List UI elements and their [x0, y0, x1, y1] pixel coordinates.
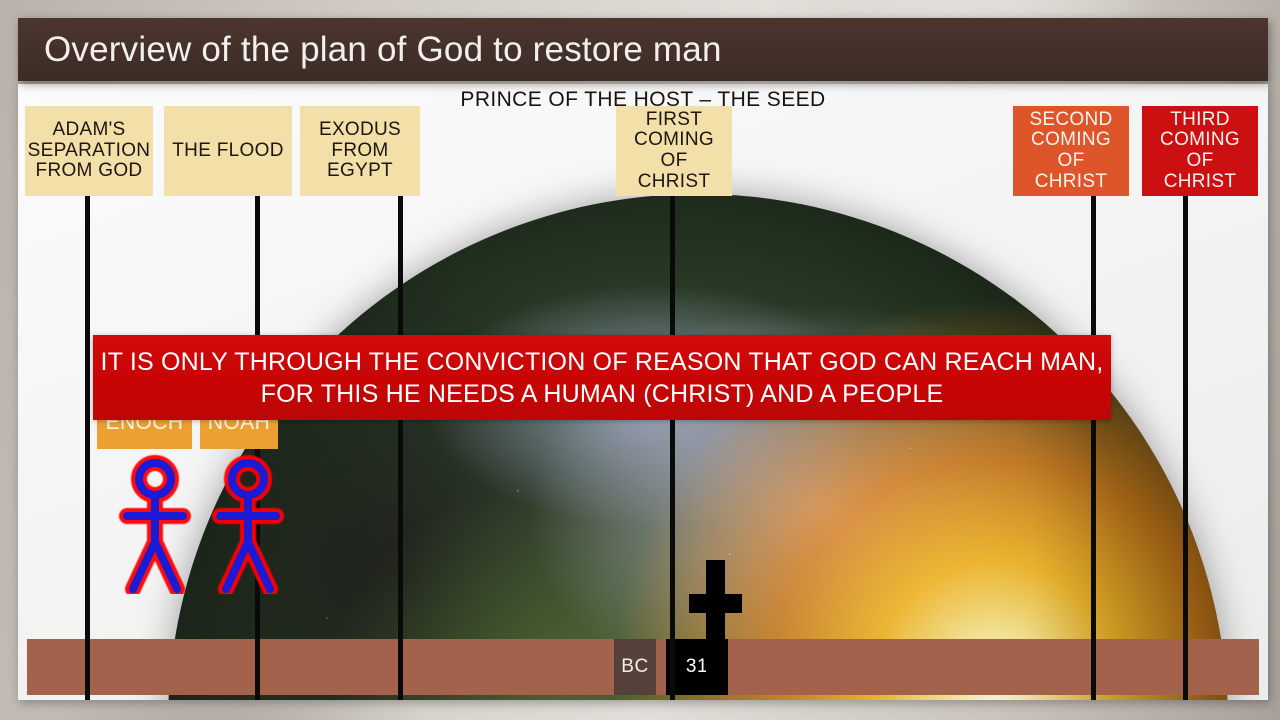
key-message-banner: IT IS ONLY THROUGH THE CONVICTION OF REA… — [93, 335, 1111, 420]
person-figure-icon-noah — [208, 454, 288, 599]
slide-canvas: IT IS ONLY THROUGH THE CONVICTION OF REA… — [18, 84, 1268, 700]
timeline-bc-marker: BC — [614, 639, 656, 695]
event-line: OF CHRIST — [1019, 151, 1123, 192]
event-line: ADAM'S — [53, 120, 126, 141]
cross-icon — [689, 560, 742, 678]
timeline-marker-line-second-coming — [1091, 195, 1096, 700]
timeline-marker-line-third-coming — [1183, 195, 1188, 700]
title-bar: Overview of the plan of God to restore m… — [18, 18, 1268, 81]
event-box-third-coming-of-christ[interactable]: THIRD COMING OF CHRIST — [1142, 106, 1258, 196]
person-figure-icon-enoch — [115, 454, 195, 599]
page-title: Overview of the plan of God to restore m… — [44, 30, 722, 70]
event-line: THIRD — [1170, 110, 1230, 131]
banner-line-2: FOR THIS HE NEEDS A HUMAN (CHRIST) AND A… — [261, 378, 944, 410]
timeline-bc-label: BC — [621, 656, 648, 678]
timeline-marker-line-first-coming — [670, 195, 675, 700]
event-line: FIRST — [646, 110, 702, 131]
event-box-second-coming-of-christ[interactable]: SECOND COMING OF CHRIST — [1013, 106, 1129, 196]
event-line: COMING — [1031, 130, 1111, 151]
event-line: COMING — [634, 130, 714, 151]
event-line: EXODUS — [319, 120, 401, 141]
event-box-exodus-from-egypt[interactable]: EXODUS FROM EGYPT — [300, 106, 420, 196]
event-line: THE FLOOD — [172, 141, 283, 162]
prince-of-host-caption: PRINCE OF THE HOST – THE SEED — [18, 88, 1268, 112]
event-line: SECOND — [1029, 110, 1112, 131]
timeline-marker-line-exodus — [398, 195, 403, 700]
event-line: SEPARATION — [28, 141, 151, 162]
event-box-the-flood[interactable]: THE FLOOD — [164, 106, 292, 196]
banner-line-1: IT IS ONLY THROUGH THE CONVICTION OF REA… — [101, 346, 1104, 378]
event-line: FROM — [331, 141, 388, 162]
cross-upright — [706, 560, 725, 678]
event-line: COMING — [1160, 130, 1240, 151]
event-line: OF CHRIST — [1148, 151, 1252, 192]
event-box-adams-separation-from-god[interactable]: ADAM'S SEPARATION FROM GOD — [25, 106, 153, 196]
event-line: OF CHRIST — [622, 151, 726, 192]
timeline-marker-line-adam — [85, 195, 90, 700]
event-line: FROM GOD — [36, 161, 143, 182]
event-line: EGYPT — [327, 161, 393, 182]
event-box-first-coming-of-christ[interactable]: FIRST COMING OF CHRIST — [616, 106, 732, 196]
slide-root: Overview of the plan of God to restore m… — [0, 0, 1280, 720]
